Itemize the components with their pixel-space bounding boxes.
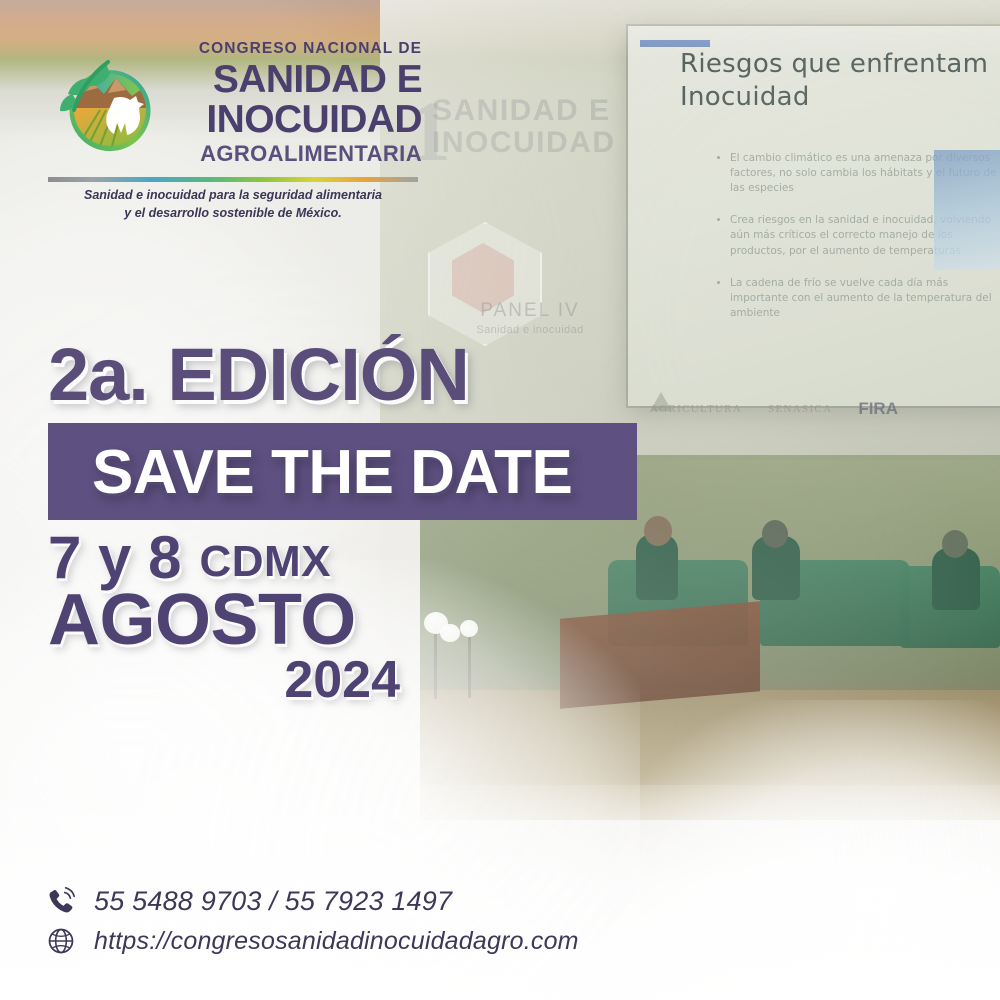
event-year: 2024 <box>48 654 400 706</box>
event-days: 7 y 8 <box>48 528 181 588</box>
congress-logo-text: CONGRESO NACIONAL DE SANIDAD E INOCUIDAD… <box>166 40 422 167</box>
tagline-line-2: y el desarrollo sostenible de México. <box>48 204 418 222</box>
gradient-divider <box>48 177 418 182</box>
phone-icon <box>44 884 78 918</box>
congress-emblem-icon <box>48 48 166 166</box>
logo-line-sanidad: SANIDAD E <box>166 61 422 98</box>
contact-footer: 55 5488 9703 / 55 7923 1497 https://cong… <box>44 884 684 964</box>
contact-website-text: https://congresosanidadinocuidadagro.com <box>94 927 579 956</box>
logo-line-inocuidad: INOCUIDAD <box>166 101 422 138</box>
globe-icon <box>44 924 78 958</box>
poster-canvas: Riesgos que enfrentam Inocuidad El cambi… <box>0 0 1000 1000</box>
logo-line-agroalimentaria: AGROALIMENTARIA <box>166 141 422 167</box>
edition-heading: 2a. EDICIÓN <box>48 332 469 417</box>
date-row-days-city: 7 y 8 CDMX <box>48 528 428 588</box>
logo-line-congreso: CONGRESO NACIONAL DE <box>166 40 422 58</box>
contact-phone-text: 55 5488 9703 / 55 7923 1497 <box>94 886 452 917</box>
contact-website-row[interactable]: https://congresosanidadinocuidadagro.com <box>44 924 684 958</box>
tagline-line-1: Sanidad e inocuidad para la seguridad al… <box>48 186 418 204</box>
event-month: AGOSTO <box>48 584 428 656</box>
save-the-date-heading: SAVE THE DATE <box>92 437 572 508</box>
brand-tagline: Sanidad e inocuidad para la seguridad al… <box>48 186 418 222</box>
event-date-block: 7 y 8 CDMX AGOSTO 2024 <box>48 528 428 706</box>
contact-phone-row[interactable]: 55 5488 9703 / 55 7923 1497 <box>44 884 684 918</box>
